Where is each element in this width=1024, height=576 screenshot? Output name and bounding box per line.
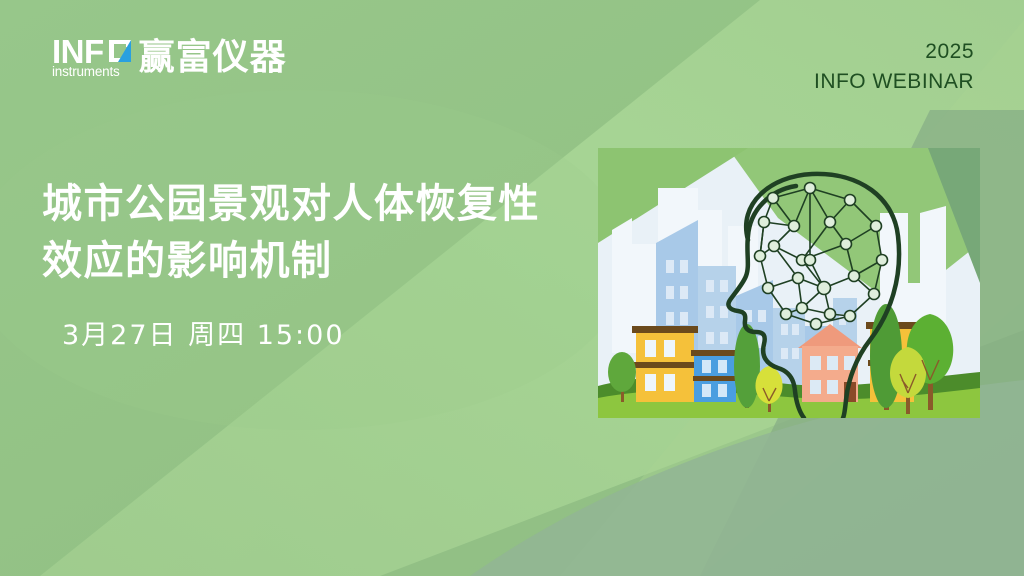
page-title: 城市公园景观对人体恢复性 效应的影响机制: [42, 176, 602, 290]
webinar-year: 2025: [814, 38, 974, 66]
schedule-datetime: 3月27日 周四 15:00: [62, 313, 345, 352]
webinar-banner: INF instruments 赢富仪器 2025 INFO WEBINAR 城…: [0, 0, 1024, 576]
house-blue-left: [691, 350, 739, 402]
webinar-meta: 2025 INFO WEBINAR: [814, 38, 974, 99]
illustration-svg: [598, 148, 980, 418]
illustration-city-brain: [598, 148, 980, 418]
logo-latin-mark: INF instruments: [52, 35, 133, 79]
logo-brand-sub: instruments: [52, 65, 120, 79]
logo-info-row: INF: [52, 35, 133, 68]
webinar-label: INFO WEBINAR: [814, 66, 974, 99]
brand-logo[interactable]: INF instruments 赢富仪器: [52, 30, 287, 78]
tree-round-left: [608, 352, 636, 392]
info-square-logo-icon: [107, 38, 133, 64]
tree-cypress: [734, 324, 760, 408]
logo-brand-latin: INF: [52, 35, 104, 68]
house-yellow-left: [632, 326, 698, 402]
logo-o-svg: [107, 38, 133, 64]
logo-brand-cn: 赢富仪器: [139, 40, 287, 76]
